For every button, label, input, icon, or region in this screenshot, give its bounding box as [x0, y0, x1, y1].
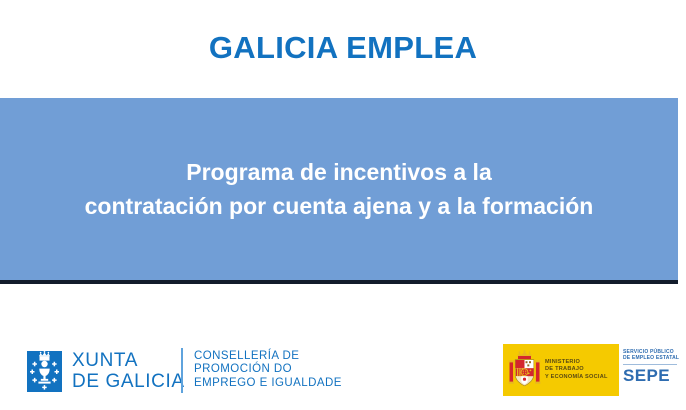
footer-logos: XUNTA DE GALICIA CONSELLERÍA DE PROMOCIÓ…: [0, 330, 686, 410]
page-title: GALICIA EMPLEA: [0, 28, 686, 68]
logo-divider: [181, 348, 183, 393]
ministry-logo: MINISTERIO DE TRABAJO Y ECONOMÍA SOCIAL: [503, 344, 619, 396]
sepe-subtitle: SERVICIO PÚBLICO DE EMPLEO ESTATAL: [623, 349, 686, 362]
conselleria-text: CONSELLERÍA DE PROMOCIÓN DO EMPREGO E IG…: [194, 350, 342, 390]
program-banner: Programa de incentivos a la contratación…: [0, 98, 678, 284]
spain-coat-of-arms-icon: [508, 350, 541, 390]
xunta-name-text: XUNTA DE GALICIA: [72, 350, 185, 392]
xunta-de-galicia-logo: XUNTA DE GALICIA: [27, 350, 185, 392]
sepe-logo: SERVICIO PÚBLICO DE EMPLEO ESTATAL SEPE: [619, 344, 686, 396]
sepe-rule: [623, 364, 677, 365]
sepe-acronym: SEPE: [623, 366, 686, 385]
ministry-name-text: MINISTERIO DE TRABAJO Y ECONOMÍA SOCIAL: [545, 359, 608, 381]
galicia-coat-of-arms-icon: [27, 351, 62, 392]
banner-heading: Programa de incentivos a la contratación…: [0, 155, 678, 223]
